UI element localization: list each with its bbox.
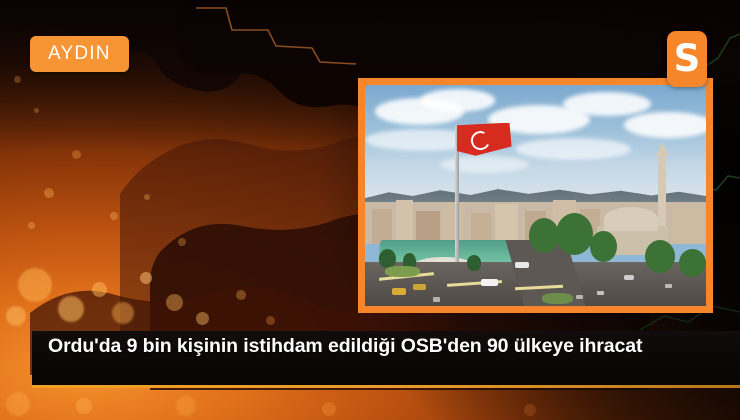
photo-building [672, 207, 703, 245]
logo-letter: S [674, 40, 701, 77]
photo-mosque-dome [604, 207, 659, 231]
s-logo-icon[interactable]: S [667, 31, 707, 87]
photo-building [396, 200, 413, 244]
photo-tree [590, 231, 617, 262]
photo-flowerbed [385, 266, 419, 277]
news-photo [365, 85, 706, 306]
photo-car [624, 275, 634, 280]
news-card: AYDIN S [0, 0, 740, 420]
photo-building [495, 204, 519, 244]
photo-person [665, 284, 672, 288]
photo-flowerbed [542, 293, 573, 304]
photo-minaret [658, 151, 666, 231]
photo-tree [556, 213, 594, 255]
photo-cloud [624, 112, 706, 139]
photo-building [443, 202, 463, 244]
photo-car [515, 262, 529, 269]
photo-car [481, 279, 498, 286]
photo-tree [645, 240, 676, 273]
photo-car [413, 284, 427, 290]
photo-person [433, 297, 440, 301]
photo-cloud [563, 92, 652, 116]
headline-accent-rule [32, 385, 740, 388]
photo-car [392, 288, 406, 295]
photo-building [372, 209, 392, 244]
photo-tree [679, 249, 706, 278]
city-badge-label: AYDIN [48, 43, 111, 64]
city-badge[interactable]: AYDIN [30, 36, 129, 72]
photo-person [576, 295, 583, 299]
photo-person [597, 291, 604, 295]
headline: Ordu'da 9 bin kişinin istihdam edildiği … [48, 334, 722, 359]
photo-tree [467, 255, 481, 270]
photo-frame [358, 78, 713, 313]
photo-cloud [420, 89, 495, 111]
photo-cloud [515, 138, 631, 160]
photo-tree [529, 218, 560, 253]
